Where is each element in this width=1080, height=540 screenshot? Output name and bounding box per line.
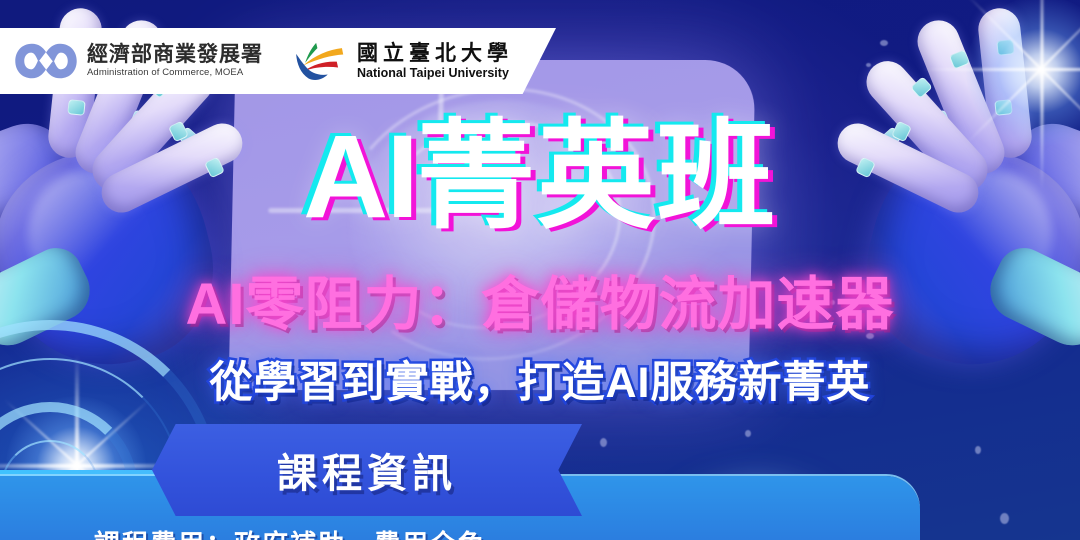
poster-subtitle: AI零阻力：倉儲物流加速器 bbox=[0, 276, 1080, 334]
headline-cjk: 菁英班 bbox=[417, 111, 777, 243]
logo-moea-name-cn: 經濟部商業發展署 bbox=[87, 44, 263, 66]
speck bbox=[975, 446, 981, 454]
logo-ntpu-text: 國立臺北大學 National Taipei University bbox=[357, 42, 513, 79]
speck bbox=[1000, 513, 1009, 524]
header-logo-bar: 經濟部商業發展署 Administration of Commerce, MOE… bbox=[0, 28, 556, 94]
moea-infinity-logo-icon bbox=[14, 41, 78, 81]
logo-ntpu-name-en: National Taipei University bbox=[357, 66, 513, 80]
logo-moea-name-en: Administration of Commerce, MOEA bbox=[87, 67, 263, 78]
course-info-banner[interactable]: 課程資訊 bbox=[152, 424, 582, 516]
finger-joint bbox=[996, 39, 1014, 56]
finger-joint bbox=[67, 99, 85, 116]
finger-joint bbox=[994, 99, 1012, 116]
speck bbox=[600, 438, 607, 447]
logo-moea: 經濟部商業發展署 Administration of Commerce, MOE… bbox=[14, 41, 263, 81]
logo-divider bbox=[277, 41, 278, 81]
ntpu-bird-logo-icon bbox=[292, 41, 348, 81]
course-info-banner-label: 課程資訊 bbox=[277, 441, 457, 499]
logo-ntpu-name-cn: 國立臺北大學 bbox=[357, 42, 513, 64]
course-fee-line: 課程費用：政府補助，費用全免 bbox=[94, 524, 486, 540]
poster-canvas: 經濟部商業發展署 Administration of Commerce, MOE… bbox=[0, 0, 1080, 540]
poster-tagline: 從學習到實戰，打造AI服務新菁英 bbox=[0, 362, 1080, 405]
logo-moea-text: 經濟部商業發展署 Administration of Commerce, MOE… bbox=[87, 44, 263, 78]
speck bbox=[745, 430, 751, 437]
poster-headline: AI菁英班 bbox=[0, 118, 1080, 236]
logo-ntpu: 國立臺北大學 National Taipei University bbox=[292, 41, 513, 81]
headline-latin: AI bbox=[303, 111, 417, 243]
